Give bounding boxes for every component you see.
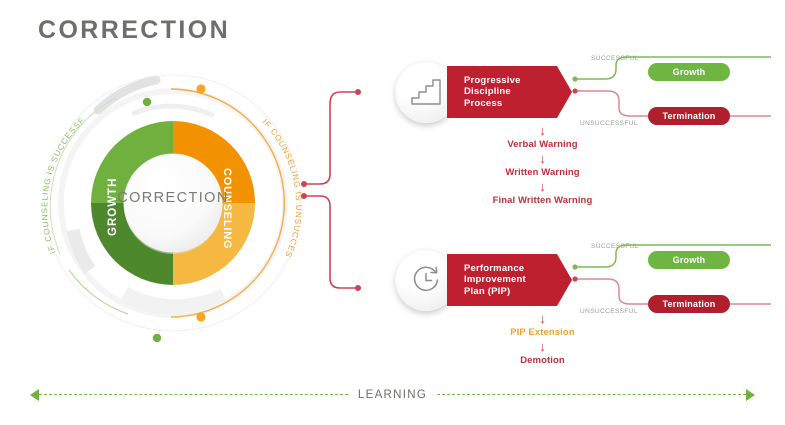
decor-arc-gray-3 [124, 294, 224, 307]
step-pip-extension: PIP Extension [450, 326, 635, 340]
steps-progressive-discipline: ↓ Verbal Warning ↓ Written Warning ↓ Fin… [450, 124, 635, 208]
wheel-center-label: CORRECTION [28, 190, 318, 206]
outcome-termination-bottom[interactable]: Termination [648, 295, 730, 313]
connector-dot-left-upper [301, 181, 307, 187]
page-title: CORRECTION [38, 16, 230, 45]
flow-performance-improvement-plan: Performance Improvement Plan (PIP) SUCCE… [395, 240, 785, 390]
branch-dot-unsuccessful [572, 276, 577, 281]
learning-bar: LEARNING [30, 385, 755, 405]
connector-line-bottom [304, 196, 358, 288]
arrow-left-icon [30, 389, 39, 401]
branch-label-successful-top: SUCCESSFUL [591, 55, 639, 62]
connector-dot-top-right [355, 89, 361, 95]
step-arrow-2: ↓ [450, 152, 635, 166]
arrow-right-icon [746, 389, 755, 401]
wheel-dot-orange-bottom [196, 312, 205, 321]
correction-wheel: GROWTH COUNSELING IF COUNSELING IS SUCCE… [28, 58, 318, 348]
outcome-growth-bottom[interactable]: Growth [648, 251, 730, 269]
step-demotion: Demotion [450, 354, 635, 368]
connector-dot-bottom-right [355, 285, 361, 291]
connector-graphic [300, 70, 410, 310]
outcome-termination-top[interactable]: Termination [648, 107, 730, 125]
learning-label: LEARNING [348, 389, 437, 401]
branch-label-successful-bottom: SUCCESSFUL [591, 243, 639, 250]
step-written-warning: Written Warning [450, 166, 635, 180]
branch-dot-unsuccessful [572, 88, 577, 93]
branch-connector [300, 70, 410, 310]
connector-line-top [304, 92, 358, 184]
learning-line-right [437, 394, 746, 396]
step-final-written-warning: Final Written Warning [450, 194, 635, 208]
connector-dot-left-lower [301, 193, 307, 199]
step-arrow-1: ↓ [450, 312, 635, 326]
step-arrow-2: ↓ [450, 340, 635, 354]
step-arrow-1: ↓ [450, 124, 635, 138]
wheel-dot-orange-top [196, 84, 205, 93]
branch-dot-successful [572, 264, 577, 269]
learning-line-left [39, 394, 348, 396]
steps-pip: ↓ PIP Extension ↓ Demotion [450, 312, 635, 368]
wheel-dot-green-top [143, 98, 151, 106]
wheel-dot-green-bottom [153, 334, 161, 342]
branch-dot-successful [572, 76, 577, 81]
wheel-label-counseling: COUNSELING [221, 168, 233, 249]
step-arrow-3: ↓ [450, 180, 635, 194]
infographic-canvas: CORRECTION [0, 0, 785, 425]
step-verbal-warning: Verbal Warning [450, 138, 635, 152]
wheel-outer-label-green: IF COUNSELING IS SUCCESSFUL [28, 58, 87, 255]
flow-progressive-discipline: Progressive Discipline Process SUCCESSFU… [395, 52, 785, 202]
outcome-growth-top[interactable]: Growth [648, 63, 730, 81]
wheel-label-growth: GROWTH [107, 178, 119, 236]
